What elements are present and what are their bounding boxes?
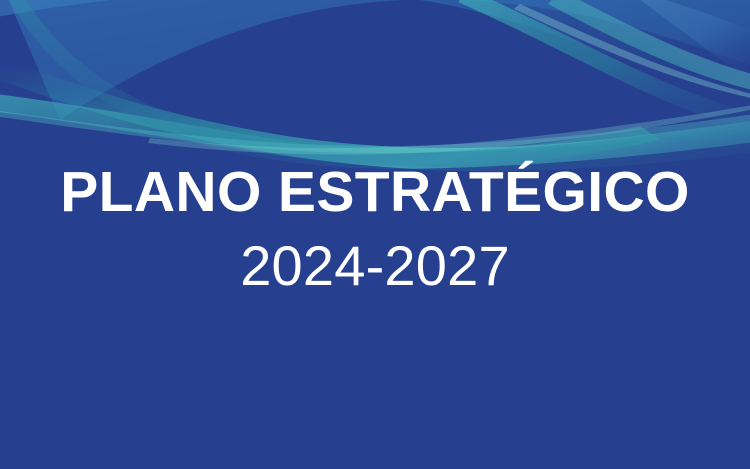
abstract-wave-graphic: [0, 0, 750, 469]
plano-estrategico-banner: PLANO ESTRATÉGICO 2024-2027: [0, 0, 750, 469]
